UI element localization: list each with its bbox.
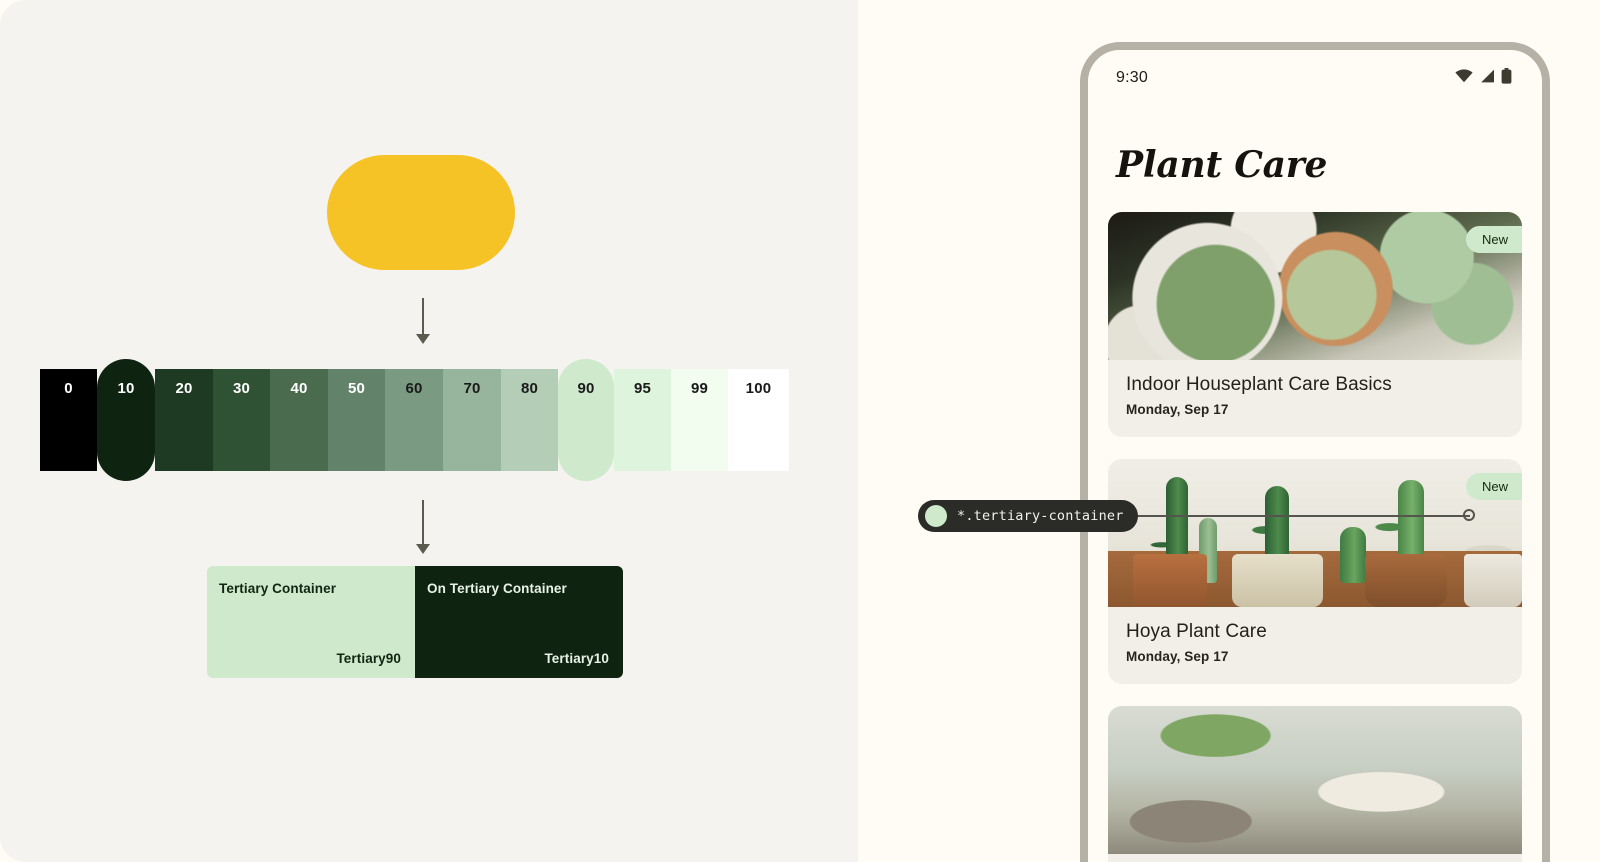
tone-label: 95 [634,381,651,471]
tertiary-container-swatch[interactable]: Tertiary Container Tertiary90 [207,566,415,678]
tone-swatch-30[interactable]: 30 [213,369,270,471]
tone-swatch-70[interactable]: 70 [443,369,501,471]
token-callout[interactable]: *.tertiary-container [918,500,1138,532]
tone-label: 100 [746,381,772,471]
source-color-swatch[interactable] [327,155,515,270]
tone-label: 80 [521,381,538,471]
tertiary-container-title: Tertiary Container [219,581,401,596]
callout-leader-line [1118,515,1470,517]
tone-label: 70 [463,381,480,471]
battery-icon [1501,68,1512,89]
status-badge: New [1466,226,1522,253]
status-bar: 9:30 [1088,50,1542,106]
tertiary-tonal-palette: 01020304050607080909599100 [40,369,789,471]
tone-swatch-99[interactable]: 99 [671,369,728,471]
wifi-icon [1455,69,1473,88]
card-image: New [1108,459,1522,607]
tertiary-container-tone-label: Tertiary90 [219,651,401,666]
tone-label: 20 [175,381,192,471]
tone-swatch-20[interactable]: 20 [155,369,213,471]
tertiary-container-role-pair: Tertiary Container Tertiary90 On Tertiar… [207,566,623,678]
tone-swatch-90[interactable]: 90 [558,359,614,481]
list-item[interactable] [1108,706,1522,862]
tone-label: 40 [290,381,307,471]
tone-label: 99 [691,381,708,471]
screenshot-stage: 01020304050607080909599100 Tertiary Cont… [0,0,1600,862]
arrow-down-icon-2 [412,500,434,556]
callout-token-label: *.tertiary-container [957,508,1124,524]
card-date: Monday, Sep 17 [1126,649,1504,664]
tone-label: 50 [348,381,365,471]
card-date: Monday, Sep 17 [1126,402,1504,417]
tone-label: 0 [64,381,73,471]
status-badge: New [1466,473,1522,500]
card-title: Hoya Plant Care [1126,621,1504,643]
list-item[interactable]: New Hoya Plant Care Monday, Sep 17 [1108,459,1522,684]
tone-swatch-100[interactable]: 100 [728,369,789,471]
tone-swatch-10[interactable]: 10 [97,359,155,481]
signal-icon [1479,69,1495,88]
palette-diagram-panel: 01020304050607080909599100 Tertiary Cont… [0,0,858,862]
tone-swatch-50[interactable]: 50 [328,369,385,471]
list-item[interactable]: New Indoor Houseplant Care Basics Monday… [1108,212,1522,437]
page-title: Plant Care [1116,144,1542,186]
phone-mockup: 9:30 [1080,42,1550,862]
tone-swatch-95[interactable]: 95 [614,369,671,471]
tone-swatch-80[interactable]: 80 [501,369,558,471]
tone-label: 10 [117,381,134,481]
arrow-down-icon-1 [412,298,434,344]
tone-swatch-0[interactable]: 0 [40,369,97,471]
tone-swatch-60[interactable]: 60 [385,369,443,471]
tone-swatch-40[interactable]: 40 [270,369,328,471]
card-body: Hoya Plant Care Monday, Sep 17 [1108,607,1522,684]
on-tertiary-container-title: On Tertiary Container [427,581,609,596]
on-tertiary-container-swatch[interactable]: On Tertiary Container Tertiary10 [415,566,623,678]
callout-target-dot [1463,509,1475,521]
tone-label: 90 [577,381,594,481]
card-image [1108,706,1522,854]
tone-label: 30 [233,381,250,471]
status-bar-icons [1455,68,1512,89]
phone-screen: 9:30 [1088,50,1542,862]
card-title: Indoor Houseplant Care Basics [1126,374,1504,396]
status-bar-time: 9:30 [1116,69,1148,87]
phone-preview-panel: 9:30 [858,0,1600,862]
callout-color-swatch [925,505,947,527]
card-list: New Indoor Houseplant Care Basics Monday… [1088,212,1542,862]
card-body: Indoor Houseplant Care Basics Monday, Se… [1108,360,1522,437]
card-body [1108,854,1522,862]
card-image: New [1108,212,1522,360]
tone-label: 60 [405,381,422,471]
on-tertiary-container-tone-label: Tertiary10 [427,651,609,666]
